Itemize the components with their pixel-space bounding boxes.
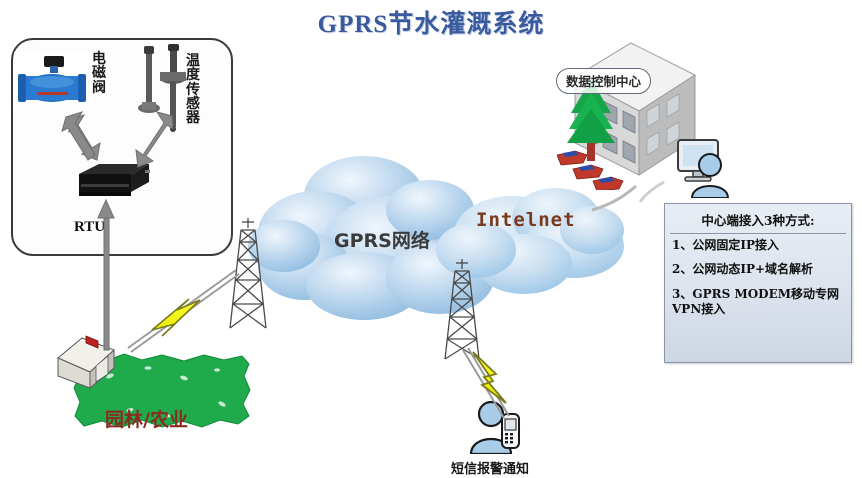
sms-label: 短信报警通知 xyxy=(451,458,529,477)
house-icon xyxy=(52,330,134,392)
solenoid-valve-label: 电磁阀 xyxy=(92,52,106,95)
cloud-label-gprs: GPRS网络 xyxy=(334,226,430,253)
infobox-item-2: 2、公网动态IP+域名解析 xyxy=(672,262,845,277)
mobile-phone-icon xyxy=(502,414,519,448)
temperature-sensor-icon xyxy=(136,42,192,134)
infobox-title: 中心端接入3种方式: xyxy=(670,207,846,234)
user-avatar-icon xyxy=(690,152,730,198)
lightning-bolt-icon xyxy=(128,270,239,352)
page-title: GPRS节水灌溉系统 xyxy=(0,4,862,40)
data-control-center-badge: 数据控制中心 xyxy=(556,68,651,94)
rtu-device-icon xyxy=(75,160,151,202)
cloud-label-internet: Intelnet xyxy=(476,209,576,231)
sms-user-icon xyxy=(469,400,525,454)
solenoid-valve-icon xyxy=(14,52,90,110)
field-label: 园林/农业 xyxy=(105,405,188,432)
diagram-canvas: GPRS节水灌溉系统 xyxy=(0,0,862,478)
cell-tower-icon xyxy=(228,212,268,330)
rtu-label: RTU xyxy=(74,219,105,236)
access-methods-infobox: 中心端接入3种方式: 1、公网固定IP接入 2、公网动态IP+域名解析 3、GP… xyxy=(664,203,852,363)
infobox-item-1: 1、公网固定IP接入 xyxy=(672,238,845,253)
temperature-sensor-label: 温度传感器 xyxy=(186,54,200,125)
infobox-item-3: 3、GPRS MODEM移动专网VPN接入 xyxy=(672,287,845,318)
cell-tower-icon xyxy=(443,255,481,361)
